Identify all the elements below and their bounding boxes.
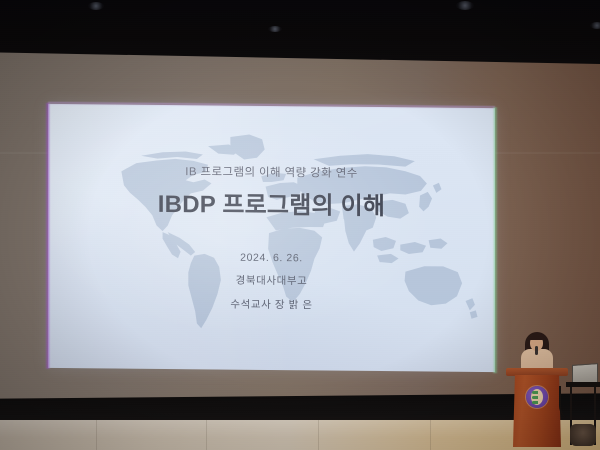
- school-emblem-icon: [526, 386, 548, 408]
- projection-edge-fringe: [45, 103, 50, 369]
- floor-plank-line: [206, 420, 207, 450]
- projection-edge-fringe: [493, 107, 498, 373]
- projected-slide: IB 프로그램의 이해 역량 강화 연수 IBDP 프로그램의 이해 2024.…: [48, 104, 495, 372]
- slide-meta-date: 2024. 6. 26.: [230, 252, 312, 265]
- emblem-leaf-shape: [532, 396, 538, 399]
- slide-meta-school: 경북대사대부고: [230, 273, 312, 289]
- slide-meta-block: 2024. 6. 26. 경북대사대부고 수석교사 장 밝 은: [230, 252, 312, 313]
- slide-title: IBDP 프로그램의 이해: [158, 184, 385, 221]
- emblem-leaf-shape: [532, 401, 538, 404]
- presenter-hair-front: [529, 333, 544, 340]
- slide-meta-presenter: 수석교사 장 밝 은: [230, 297, 312, 313]
- floor-plank-line: [318, 420, 319, 450]
- ceiling-light-icon: [456, 1, 474, 10]
- slide-subtitle: IB 프로그램의 이해 역량 강화 연수: [185, 163, 357, 181]
- ceiling-light-icon: [590, 22, 600, 29]
- ceiling-light-icon: [88, 2, 104, 10]
- emblem-leaf-shape: [532, 391, 538, 394]
- slide-canvas: IB 프로그램의 이해 역량 강화 연수 IBDP 프로그램의 이해 2024.…: [48, 104, 495, 372]
- microphone-icon: [535, 346, 538, 355]
- podium-top: [506, 368, 568, 376]
- photo-scene: IB 프로그램의 이해 역량 강화 연수 IBDP 프로그램의 이해 2024.…: [0, 0, 600, 450]
- ceiling-light-icon: [268, 26, 282, 32]
- floor-plank-line: [430, 420, 431, 450]
- floor-plank-line: [96, 420, 97, 450]
- cable-icon: [559, 386, 577, 420]
- slide-text-block: IB 프로그램의 이해 역량 강화 연수 IBDP 프로그램의 이해 2024.…: [48, 104, 495, 372]
- foreground-object: [570, 424, 596, 446]
